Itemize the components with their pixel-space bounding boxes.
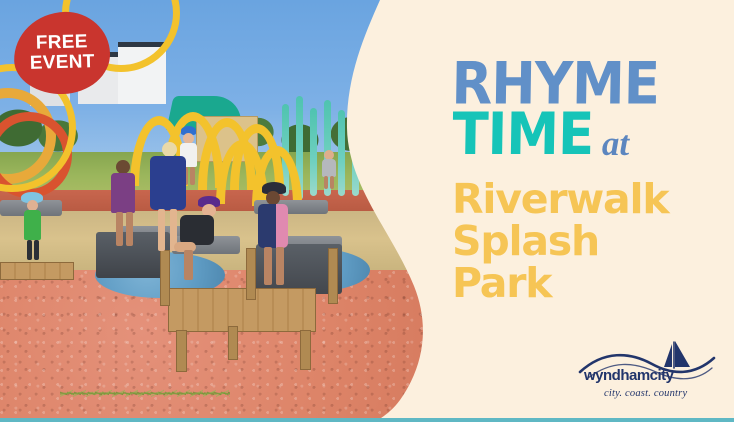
deck-post [300,330,311,370]
water-jet [352,102,359,196]
timber-deck [168,288,316,332]
deck-post [328,248,338,304]
venue-line-2: Splash [452,220,714,262]
wyndham-city-logo: wyndhamcity city. coast. country [578,338,718,400]
event-promo-banner: FREE EVENT RHYME TIME at Riverwalk Splas… [0,0,734,422]
child-figure [320,150,338,190]
foreground-grass [60,364,230,422]
deck-post [228,326,238,360]
child-figure [20,192,46,262]
water-jet [338,110,345,196]
free-event-badge: FREE EVENT [13,11,111,95]
water-jet [366,112,373,196]
venue-line-1: Riverwalk [452,178,714,220]
child-figure [252,182,296,286]
logo-tagline: city. coast. country [604,388,687,399]
timber-deck [0,262,74,280]
water-jet [310,108,317,196]
headline-time-row: TIME at [452,112,714,164]
child-figure [168,196,226,292]
venue-line-3: Park [452,262,714,304]
badge-line-2: EVENT [30,52,95,74]
headline-time: TIME [452,107,594,164]
headline-block: RHYME TIME at Riverwalk Splash Park [452,56,714,305]
headline-connector: at [602,126,629,161]
venue-name: Riverwalk Splash Park [452,178,714,305]
free-event-badge-group: FREE EVENT [0,0,200,200]
badge-line-1: FREE [36,32,88,53]
bottom-accent-rule [0,418,734,422]
logo-wordmark: wyndhamcity [584,367,674,384]
